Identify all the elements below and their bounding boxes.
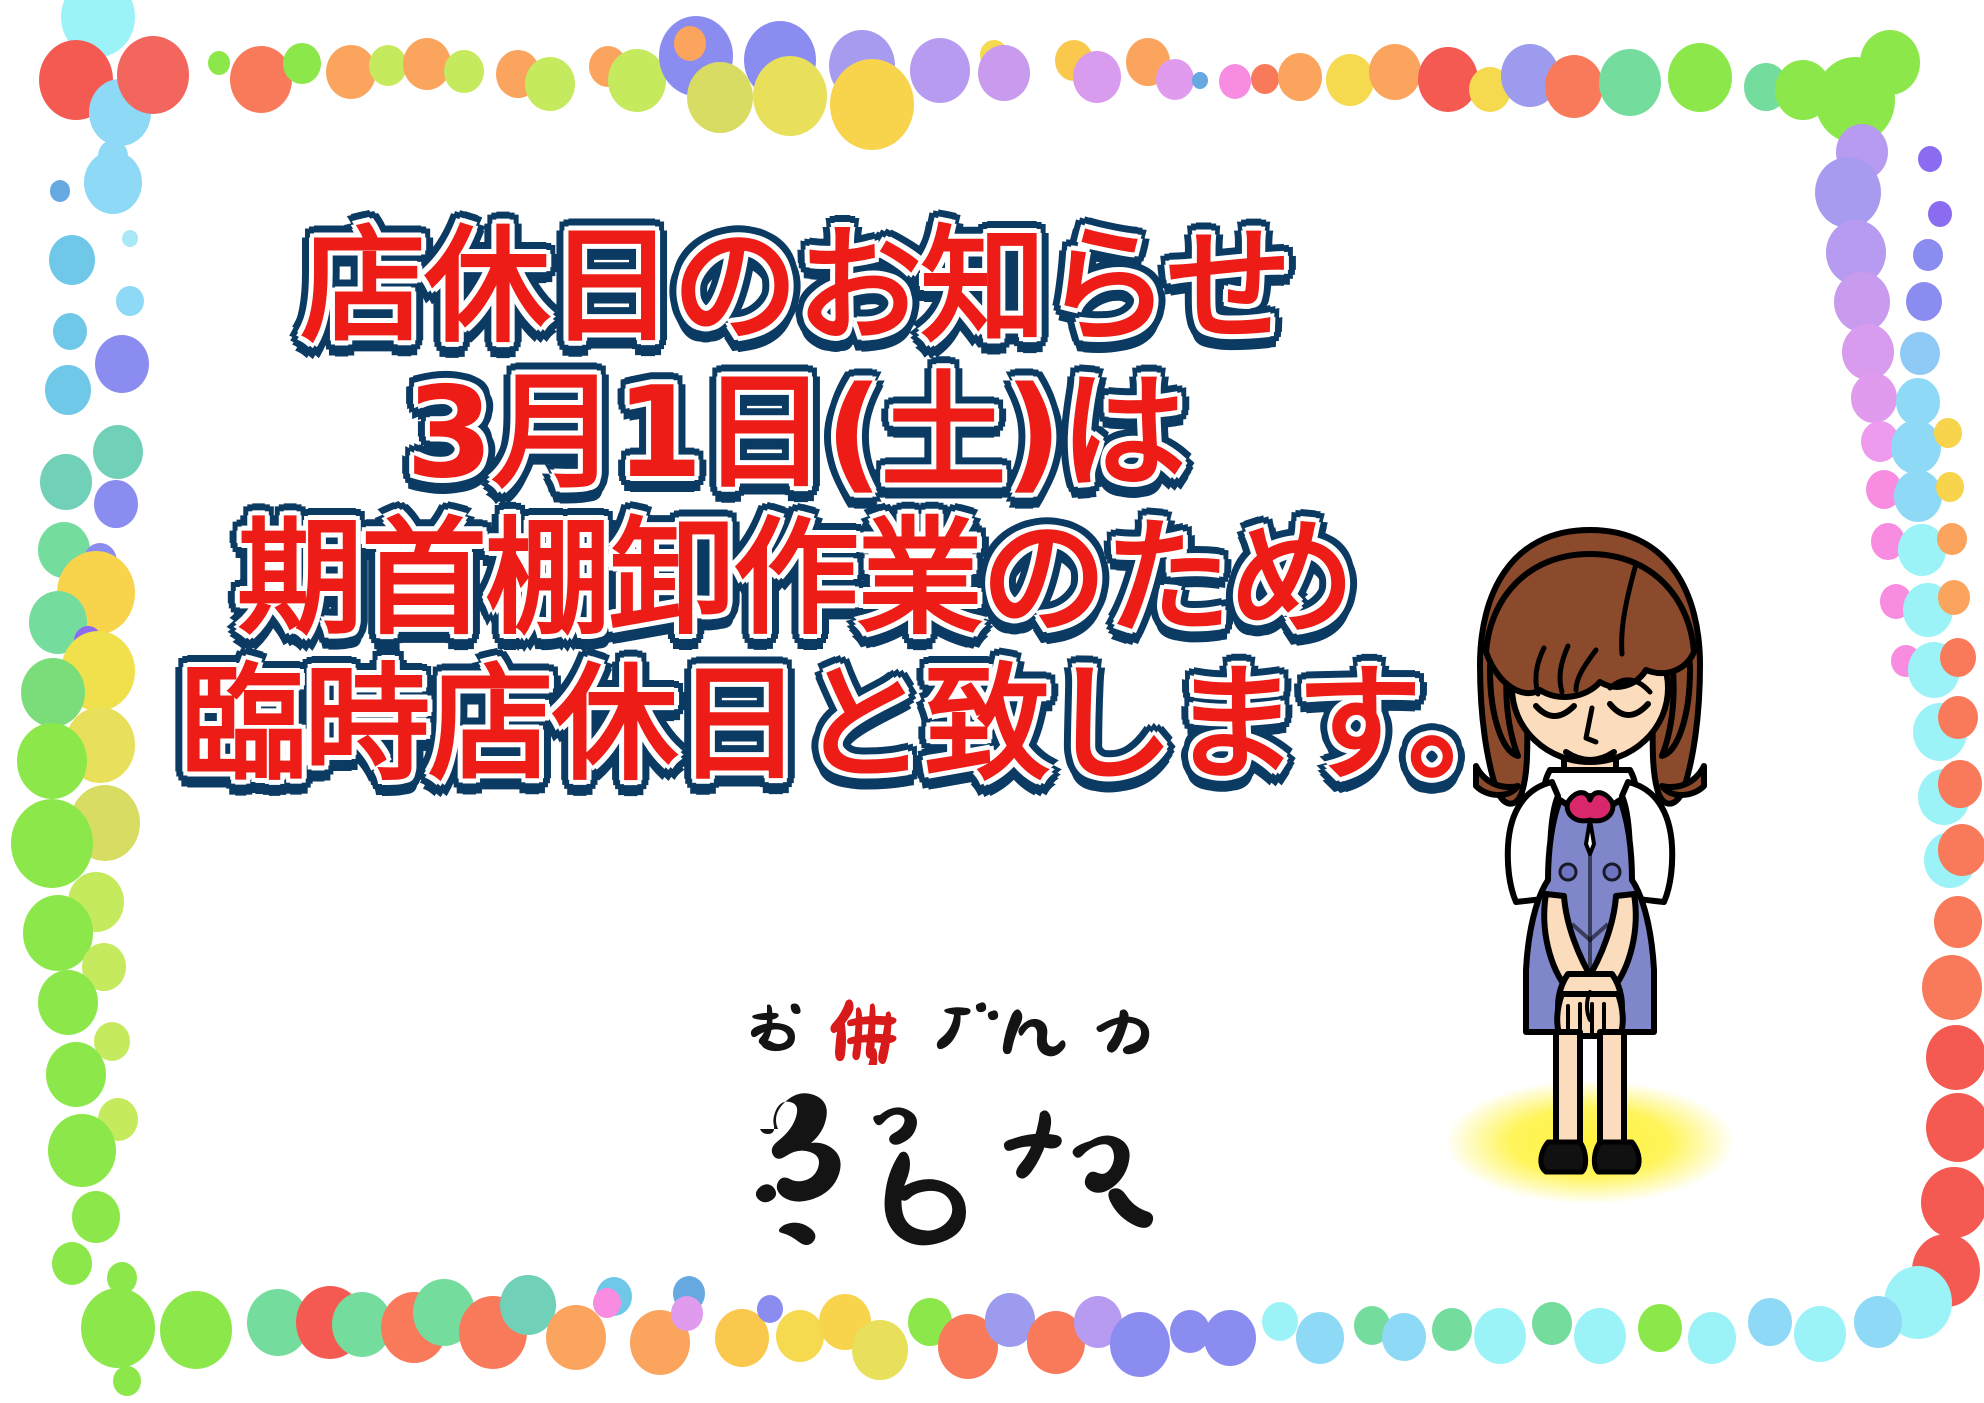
border-dot — [1934, 896, 1982, 948]
border-dot — [1908, 642, 1960, 698]
border-dot — [1842, 324, 1894, 380]
border-dot — [70, 785, 140, 861]
border-dot — [459, 1296, 527, 1369]
border-dot — [908, 1298, 952, 1346]
logo-sub-text-brush — [740, 995, 1200, 1065]
border-dot — [369, 45, 407, 86]
bowing-female-staff-illustration — [1440, 520, 1740, 1210]
store-closure-poster: 店休日のお知らせ 3月1日(土)は 期首棚卸作業のため 臨時店休日と致します。 — [0, 0, 1984, 1403]
border-dot — [1896, 378, 1940, 426]
border-dot — [11, 799, 93, 888]
border-dot — [1532, 1302, 1572, 1345]
border-dot — [1027, 1311, 1085, 1374]
border-dot — [1906, 282, 1942, 321]
border-dot — [23, 895, 93, 971]
border-dot — [1938, 824, 1984, 876]
notice-line-1: 店休日のお知らせ — [180, 225, 1410, 349]
border-dot — [1354, 1306, 1390, 1345]
border-dot — [38, 970, 98, 1035]
border-dot — [985, 1293, 1035, 1347]
border-dot — [1192, 72, 1208, 89]
border-dot — [57, 551, 135, 635]
border-dot — [1924, 832, 1976, 888]
border-dot — [593, 1288, 621, 1318]
border-dot — [687, 62, 753, 133]
border-dot — [776, 1310, 824, 1362]
border-dot — [1913, 239, 1943, 271]
border-dot — [1836, 124, 1888, 180]
border-dot — [113, 1366, 141, 1396]
border-dot — [98, 1098, 138, 1141]
border-dot — [326, 45, 376, 99]
border-dot — [1928, 201, 1952, 227]
border-dot — [715, 1309, 769, 1367]
border-dot — [49, 235, 95, 285]
notice-line-4: 臨時店休日と致します。 — [180, 663, 1410, 787]
border-dot — [674, 26, 706, 61]
border-dot — [48, 1114, 116, 1187]
border-dot — [82, 943, 126, 991]
border-dot — [671, 1296, 703, 1331]
border-dot — [444, 50, 484, 93]
border-dot — [1936, 472, 1964, 502]
border-dot — [94, 1022, 130, 1061]
border-dot — [38, 522, 90, 578]
border-dot — [1871, 523, 1905, 560]
border-dot — [1938, 580, 1970, 615]
border-dot — [1860, 30, 1920, 95]
shoe-right — [1594, 1142, 1639, 1172]
border-dot — [608, 49, 666, 112]
border-dot — [1918, 769, 1970, 825]
border-dot — [910, 38, 970, 103]
border-dot — [1918, 146, 1942, 172]
notice-line-3: 期首棚卸作業のため — [180, 517, 1410, 641]
border-dot — [1938, 760, 1982, 808]
shop-logo — [740, 995, 1200, 1285]
border-dot — [1884, 1266, 1952, 1339]
border-dot — [1912, 1234, 1980, 1307]
border-dot — [1501, 44, 1559, 107]
border-dot — [1940, 638, 1976, 677]
border-dot — [122, 230, 138, 247]
pinafore-button-left — [1560, 864, 1576, 880]
border-dot — [1262, 1302, 1298, 1341]
border-dot — [1866, 470, 1902, 509]
border-dot — [83, 543, 117, 580]
shoe-left — [1541, 1142, 1586, 1172]
border-dot — [72, 1191, 120, 1243]
border-dot — [403, 38, 451, 90]
neck-ribbon-tail — [1586, 820, 1594, 854]
border-dot — [230, 46, 292, 113]
border-dot — [659, 16, 733, 96]
border-dot — [65, 707, 135, 783]
border-dot — [1815, 157, 1881, 228]
border-dot — [1744, 63, 1788, 111]
border-dot — [53, 313, 87, 350]
border-dot — [753, 56, 827, 136]
border-dot — [1891, 645, 1921, 677]
border-dot — [938, 1314, 998, 1379]
border-dot — [1474, 1308, 1526, 1364]
border-dot — [1204, 1310, 1256, 1366]
border-dot — [1110, 1312, 1170, 1377]
notice-line-2: 3月1日(土)は — [180, 371, 1410, 495]
border-dot — [61, 0, 135, 57]
border-dot — [852, 1320, 908, 1380]
border-dot — [1894, 470, 1942, 522]
border-dot — [980, 40, 1008, 70]
border-dot — [52, 1242, 92, 1285]
border-dot — [819, 1294, 871, 1350]
border-dot — [40, 454, 92, 510]
border-dot — [50, 180, 70, 202]
border-dot — [1382, 1313, 1426, 1361]
border-dot — [1126, 38, 1170, 86]
border-dot — [1826, 220, 1886, 285]
border-dot — [1251, 64, 1279, 94]
border-dot — [830, 59, 914, 150]
border-dot — [1668, 43, 1732, 112]
border-dot — [107, 1262, 137, 1294]
border-dot — [1891, 420, 1941, 474]
border-dot — [81, 1288, 155, 1368]
border-dot — [1775, 60, 1831, 120]
border-dot — [39, 40, 113, 120]
border-dot — [89, 79, 151, 146]
border-dot — [1900, 332, 1940, 375]
border-dot — [74, 626, 102, 656]
border-dot — [630, 1310, 690, 1375]
border-dot — [1688, 1312, 1736, 1364]
border-dot — [1219, 64, 1251, 99]
border-dot — [1296, 1312, 1344, 1364]
border-dot — [1748, 1298, 1792, 1346]
logo-main-text-brush — [740, 1057, 1200, 1282]
border-dot — [1903, 583, 1953, 637]
border-dot — [1326, 54, 1374, 106]
border-dot — [1638, 1304, 1682, 1352]
border-dot — [1170, 1310, 1210, 1353]
border-dot — [95, 335, 149, 393]
border-dot — [1055, 40, 1093, 81]
border-dot — [1861, 421, 1899, 462]
border-dot — [496, 50, 540, 98]
border-dot — [1922, 955, 1982, 1020]
border-dot — [1073, 51, 1121, 103]
border-dot — [208, 51, 230, 75]
border-dot — [116, 286, 144, 316]
border-dot — [1815, 57, 1895, 143]
border-dot — [61, 631, 135, 711]
border-dot — [673, 1276, 705, 1311]
border-dot — [160, 1291, 232, 1369]
border-dot — [829, 30, 895, 101]
border-dot — [1834, 272, 1890, 332]
border-dot — [296, 1286, 364, 1359]
border-dot — [98, 140, 128, 172]
border-dot — [21, 658, 85, 727]
notice-accessible-text: 店休日のお知らせ 3月1日(土)は 期首棚卸作業のため 臨時店休日と致します。 … — [0, 0, 1, 1]
border-dot — [1937, 523, 1967, 555]
leg-left — [1556, 1032, 1580, 1146]
border-dot — [1418, 47, 1478, 112]
leg-right — [1600, 1032, 1624, 1146]
border-dot — [332, 1292, 392, 1357]
pinafore-button-right — [1604, 864, 1620, 880]
border-dot — [29, 591, 87, 654]
border-dot — [1074, 1296, 1122, 1348]
border-dot — [93, 425, 143, 479]
border-dot — [45, 365, 91, 415]
border-dot — [413, 1279, 475, 1346]
floor-glow — [1445, 1080, 1735, 1204]
border-dot — [381, 1292, 447, 1363]
border-dot — [94, 480, 138, 528]
border-dot — [1934, 418, 1962, 448]
neck-ribbon — [1567, 793, 1613, 821]
border-dot — [1432, 1308, 1472, 1351]
border-dot — [1926, 1025, 1984, 1090]
border-dot — [761, 29, 789, 59]
border-dot — [1913, 703, 1967, 761]
border-dot — [1574, 1308, 1626, 1364]
border-dot — [283, 43, 321, 84]
border-dot — [1156, 59, 1194, 100]
border-dot — [17, 723, 87, 799]
border-dot — [1369, 44, 1421, 100]
border-dot — [1854, 1296, 1902, 1348]
border-dot — [744, 21, 816, 99]
border-dot — [84, 151, 142, 214]
border-dot — [500, 1275, 556, 1335]
border-dot — [46, 1042, 106, 1107]
border-dot — [1921, 1167, 1984, 1238]
border-dot — [68, 872, 124, 932]
border-dot — [978, 45, 1030, 101]
border-dot — [247, 1289, 309, 1356]
border-dot — [546, 1305, 606, 1370]
border-dot — [117, 36, 189, 114]
border-dot — [1278, 53, 1322, 101]
notice-text-block: 店休日のお知らせ 3月1日(土)は 期首棚卸作業のため 臨時店休日と致します。 — [180, 225, 1410, 809]
border-dot — [1880, 584, 1912, 619]
border-dot — [596, 1277, 632, 1316]
border-dot — [1898, 524, 1946, 576]
border-dot — [1599, 49, 1661, 116]
border-dot — [589, 46, 627, 87]
border-dot — [1851, 373, 1897, 423]
border-dot — [525, 57, 575, 111]
border-dot — [1938, 696, 1978, 739]
border-dot — [1926, 1093, 1984, 1162]
border-dot — [1469, 67, 1511, 112]
border-dot — [1545, 55, 1603, 118]
border-dot — [1794, 1306, 1846, 1362]
border-dot — [757, 1295, 783, 1323]
